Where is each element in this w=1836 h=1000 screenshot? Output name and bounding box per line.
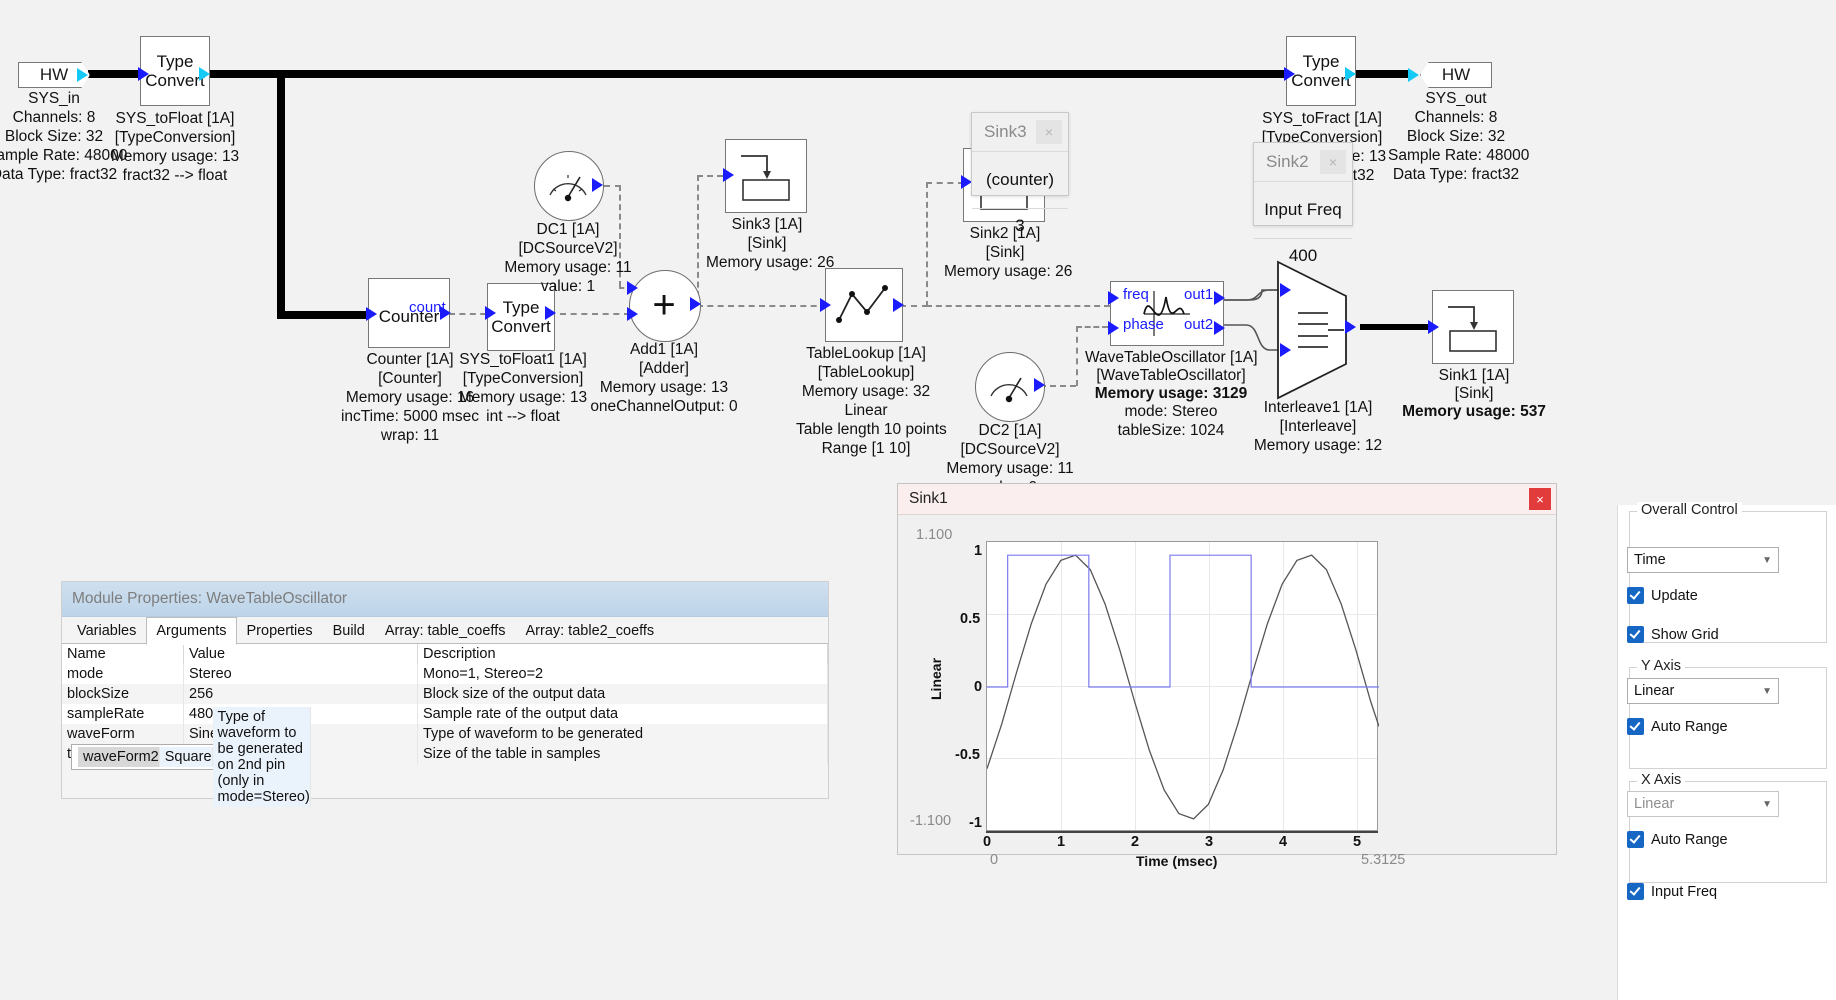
counter-input-port: [366, 307, 377, 321]
wire-add1-tablelookup: [697, 305, 827, 307]
dc1-output-port: [592, 178, 603, 192]
y-tick-0-5: 0.5: [960, 611, 980, 627]
cell-value: Stereo: [184, 664, 418, 684]
series-1: [987, 555, 1379, 687]
sink3-mini-titlebar: Sink3 ×: [972, 113, 1068, 152]
sink-icon: [725, 139, 807, 213]
sink3-mini-value: 3: [972, 209, 1068, 243]
interleave-input-port-2: [1280, 343, 1291, 357]
y-range-top: 1.100: [916, 527, 952, 543]
x-tick-0: 0: [983, 834, 991, 850]
x-tick-4: 4: [1279, 834, 1287, 850]
interleave-output-port: [1345, 320, 1356, 334]
x-axis-scale-select[interactable]: Linear ▼: [1627, 791, 1779, 817]
sys-tofloat-label: SYS_toFloat [1A][TypeConversion]Memory u…: [105, 110, 245, 186]
scope-body: 1.100 -1.100 0 5.3125 Linear 1 0.5 0 -0.…: [898, 515, 1556, 854]
y-tick-neg-0-5: -0.5: [955, 747, 980, 763]
wto-out2-name: out2: [1184, 316, 1213, 333]
y-tick-0: 0: [974, 679, 982, 695]
wire-bus-top: [210, 70, 1288, 78]
module-properties-dialog[interactable]: Module Properties: WaveTableOscillator V…: [61, 581, 829, 799]
checkbox-icon: [1627, 883, 1644, 900]
y-axis-group-title: Y Axis: [1637, 658, 1685, 674]
x-axis-group-title: X Axis: [1637, 772, 1685, 788]
scope-titlebar: Sink1 ×: [898, 484, 1556, 515]
table-row[interactable]: waveFormSineType of waveform to be gener…: [62, 724, 828, 744]
table-row[interactable]: sampleRate48000Sample rate of the output…: [62, 704, 828, 724]
props-tab-build[interactable]: Build: [323, 619, 375, 644]
cell-desc: Sample rate of the output data: [418, 704, 828, 724]
sink1-label-line1: Sink1 [1A]: [1413, 367, 1535, 386]
sys-out-shape: HW: [1420, 62, 1492, 88]
add1-input-port-2: [627, 307, 638, 321]
arguments-table: NameValueDescription modeStereoMono=1, S…: [62, 644, 828, 764]
table-row[interactable]: blockSize256Block size of the output dat…: [62, 684, 828, 704]
x-auto-range-checkbox[interactable]: Auto Range: [1627, 831, 1728, 848]
y-tick-neg-1: -1: [969, 815, 982, 831]
y-axis-scale-value: Linear: [1634, 683, 1674, 699]
sys-tofloat-output-port: [199, 67, 210, 81]
column-header-value[interactable]: Value: [184, 644, 418, 664]
show-grid-checkbox[interactable]: Show Grid: [1627, 626, 1719, 643]
close-icon[interactable]: ×: [1036, 120, 1062, 144]
sys-in-glyph: HW: [40, 65, 68, 85]
sys-out-label: SYS_outChannels: 8Block Size: 32Sample R…: [1388, 90, 1524, 185]
input-freq-checkbox[interactable]: Input Freq: [1627, 883, 1717, 900]
sys-tofract-glyph: TypeConvert: [1291, 52, 1351, 90]
plot-area: [986, 541, 1378, 831]
table-body[interactable]: modeStereoMono=1, Stereo=2blockSize256Bl…: [62, 664, 828, 764]
sys-out-input-port: [1408, 68, 1419, 82]
sink-icon: [1432, 290, 1514, 364]
dc2-output-port: [1034, 378, 1045, 392]
y-tick-1: 1: [974, 543, 982, 559]
props-tab-array-table-coeffs[interactable]: Array: table_coeffs: [375, 619, 516, 644]
scope-control-panel[interactable]: Overall Control Time ▼ Update Show Grid …: [1617, 505, 1836, 1000]
cell-value: 256: [184, 684, 418, 704]
wto-output-port-out1: [1214, 291, 1225, 305]
close-icon[interactable]: ×: [1320, 150, 1346, 174]
props-title: Module Properties: WaveTableOscillator: [72, 590, 347, 608]
props-tab-array-table2-coeffs[interactable]: Array: table2_coeffs: [515, 619, 664, 644]
wto-label-params: mode: StereotableSize: 1024: [1085, 403, 1257, 441]
chevron-down-icon: ▼: [1762, 799, 1772, 810]
cell-desc: Block size of the output data: [418, 684, 828, 704]
wire-tablelookup-out: [900, 305, 928, 307]
wto-input-port-phase: [1108, 321, 1119, 335]
x-range-max: 5.3125: [1361, 852, 1405, 868]
column-header-description[interactable]: Description: [418, 644, 828, 664]
y-auto-range-label: Auto Range: [1651, 719, 1728, 735]
scope-title: Sink1: [909, 490, 948, 508]
sink2-mini-titlebar: Sink2 ×: [1254, 143, 1352, 182]
interleave1-label: Interleave1 [1A][Interleave]Memory usage…: [1248, 399, 1388, 456]
x-auto-range-label: Auto Range: [1651, 832, 1728, 848]
add1-input-port-1: [627, 281, 638, 295]
gauge-icon: [975, 352, 1043, 420]
checkbox-icon: [1627, 831, 1644, 848]
update-checkbox-label: Update: [1651, 588, 1698, 604]
wire-bus-down: [277, 74, 285, 319]
y-auto-range-checkbox[interactable]: Auto Range: [1627, 718, 1728, 735]
table-row[interactable]: waveForm2SquareType of waveform to be ge…: [71, 744, 223, 770]
wire-interleave-sink1: [1360, 324, 1428, 330]
cell-name: blockSize: [62, 684, 184, 704]
update-checkbox[interactable]: Update: [1627, 587, 1698, 604]
sys-tofloat1-label: SYS_toFloat1 [1A][TypeConversion]Memory …: [455, 351, 591, 427]
sys-tofract-output-port: [1345, 67, 1356, 81]
overall-control-title: Overall Control: [1637, 502, 1742, 518]
wto-out1-name: out1: [1184, 286, 1213, 303]
sink3-mini-caption: (counter): [972, 152, 1068, 209]
column-header-name[interactable]: Name: [62, 644, 184, 664]
counter-output-port: [440, 306, 451, 320]
x-tick-3: 3: [1205, 834, 1213, 850]
wto-label-memory: Memory usage: 3129: [1085, 385, 1257, 404]
wire-sink2-up: [926, 182, 928, 307]
add1-output-port: [690, 297, 701, 311]
x-range-min: 0: [990, 852, 998, 868]
sink3-label: Sink3 [1A][Sink]Memory usage: 26: [706, 216, 828, 273]
show-grid-checkbox-label: Show Grid: [1651, 627, 1719, 643]
wto-in-phase-name: phase: [1123, 316, 1164, 333]
sys-tofloat-glyph: TypeConvert: [145, 52, 205, 90]
table-row[interactable]: modeStereoMono=1, Stereo=2: [62, 664, 828, 684]
x-tick-2: 2: [1131, 834, 1139, 850]
props-titlebar: Module Properties: WaveTableOscillator: [62, 582, 828, 617]
checkbox-icon: [1627, 718, 1644, 735]
x-axis-title: Time (msec): [1136, 853, 1217, 869]
cell-name: mode: [62, 664, 184, 684]
wto-output-port-out2: [1214, 321, 1225, 335]
wire-tofract-sysout: [1355, 70, 1408, 78]
wto-label-line1: WaveTableOscillator [1A]: [1085, 349, 1257, 368]
sys-out-glyph: HW: [1442, 65, 1470, 85]
mini-window-sink3[interactable]: Sink3 × (counter) 3: [971, 112, 1069, 196]
wire-to-sink3: [697, 175, 723, 177]
x-axis-line: [986, 831, 1378, 833]
wire-tablelookup-wto-freq: [926, 305, 1110, 307]
tablelookup-label: TableLookup [1A][TableLookup]Memory usag…: [796, 345, 936, 458]
chevron-down-icon: ▼: [1762, 686, 1772, 697]
props-tab-variables[interactable]: Variables: [67, 619, 146, 644]
sink2-mini-caption: Input Freq: [1254, 182, 1352, 239]
dc1-label: DC1 [1A][DCSourceV2]Memory usage: 11valu…: [498, 221, 638, 297]
wire-to-sink2: [926, 182, 964, 184]
wire-dc2-out: [1040, 385, 1076, 387]
checkbox-icon: [1627, 587, 1644, 604]
mini-window-sink2[interactable]: Sink2 × Input Freq 400: [1253, 142, 1353, 226]
table-header-row: NameValueDescription: [62, 644, 828, 664]
y-axis-scale-select[interactable]: Linear ▼: [1627, 678, 1779, 704]
add1-label: Add1 [1A][Adder]Memory usage: 13oneChann…: [588, 341, 740, 417]
zigzag-icon: [825, 268, 903, 342]
wire-dc2-up: [1076, 326, 1078, 386]
overall-control-select-value: Time: [1634, 552, 1666, 568]
sink2-mini-value: 400: [1254, 239, 1352, 273]
close-icon[interactable]: ×: [1529, 488, 1551, 510]
chevron-down-icon: ▼: [1762, 555, 1772, 566]
cell-desc: Type of waveform to be generated on 2nd …: [213, 707, 311, 807]
cell-value: Square: [160, 747, 213, 767]
add1-glyph: +: [629, 270, 699, 340]
tablelookup-output-port: [893, 298, 904, 312]
props-tabstrip[interactable]: VariablesArgumentsPropertiesBuildArray: …: [62, 617, 828, 644]
x-tick-5: 5: [1353, 834, 1361, 850]
sys-tofract-input-port: [1284, 67, 1295, 81]
cell-name: waveForm2: [78, 747, 160, 767]
sink1-label-line2: [Sink]: [1413, 385, 1535, 404]
wto-label-line2: [WaveTableOscillator]: [1085, 367, 1257, 386]
props-tab-properties[interactable]: Properties: [237, 619, 323, 644]
sys-in-label: SYS_inChannels: 8Block Size: 32Sample Ra…: [0, 90, 122, 185]
sink3-input-port: [723, 168, 734, 182]
wto-in-freq-name: freq: [1123, 286, 1149, 303]
sink1-label-memory: Memory usage: 537: [1393, 403, 1555, 422]
wire-dc2-wto-phase: [1076, 326, 1108, 328]
wire-tofloat1-add1: [560, 313, 630, 315]
sys-in-output-port: [77, 68, 88, 82]
overall-control-select[interactable]: Time ▼: [1627, 547, 1779, 573]
wto-input-port-freq: [1108, 291, 1119, 305]
cell-desc: Size of the table in samples: [418, 744, 828, 764]
sink1-input-port: [1428, 320, 1439, 334]
sys-tofloat1-output-port: [545, 306, 556, 320]
x-axis-scale-value: Linear: [1634, 796, 1674, 812]
y-axis-title: Linear: [928, 658, 944, 700]
sys-tofloat1-input-port: [485, 306, 496, 320]
wire-bus-to-counter: [277, 311, 369, 319]
y-range-bottom: -1.100: [910, 813, 951, 829]
plot-series: [987, 542, 1379, 832]
x-tick-1: 1: [1057, 834, 1065, 850]
cell-desc: Mono=1, Stereo=2: [418, 664, 828, 684]
sys-tofloat-input-port: [138, 67, 149, 81]
sink1-scope-window[interactable]: Sink1 × 1.100 -1.100 0 5.3125 Linear 1 0…: [897, 483, 1557, 855]
interleave-input-port-1: [1280, 283, 1291, 297]
sys-tofloat1-glyph: TypeConvert: [491, 298, 551, 336]
overall-control-group: Overall Control: [1629, 511, 1827, 643]
props-tab-arguments[interactable]: Arguments: [146, 617, 236, 645]
input-freq-label: Input Freq: [1651, 884, 1717, 900]
checkbox-icon: [1627, 626, 1644, 643]
cell-name: sampleRate: [62, 704, 184, 724]
sink3-mini-title: Sink3: [984, 122, 1027, 142]
cell-desc: Type of waveform to be generated: [418, 724, 828, 744]
cell-name: waveForm: [62, 724, 184, 744]
tablelookup-input-port: [820, 298, 831, 312]
sink2-mini-title: Sink2: [1266, 152, 1309, 172]
